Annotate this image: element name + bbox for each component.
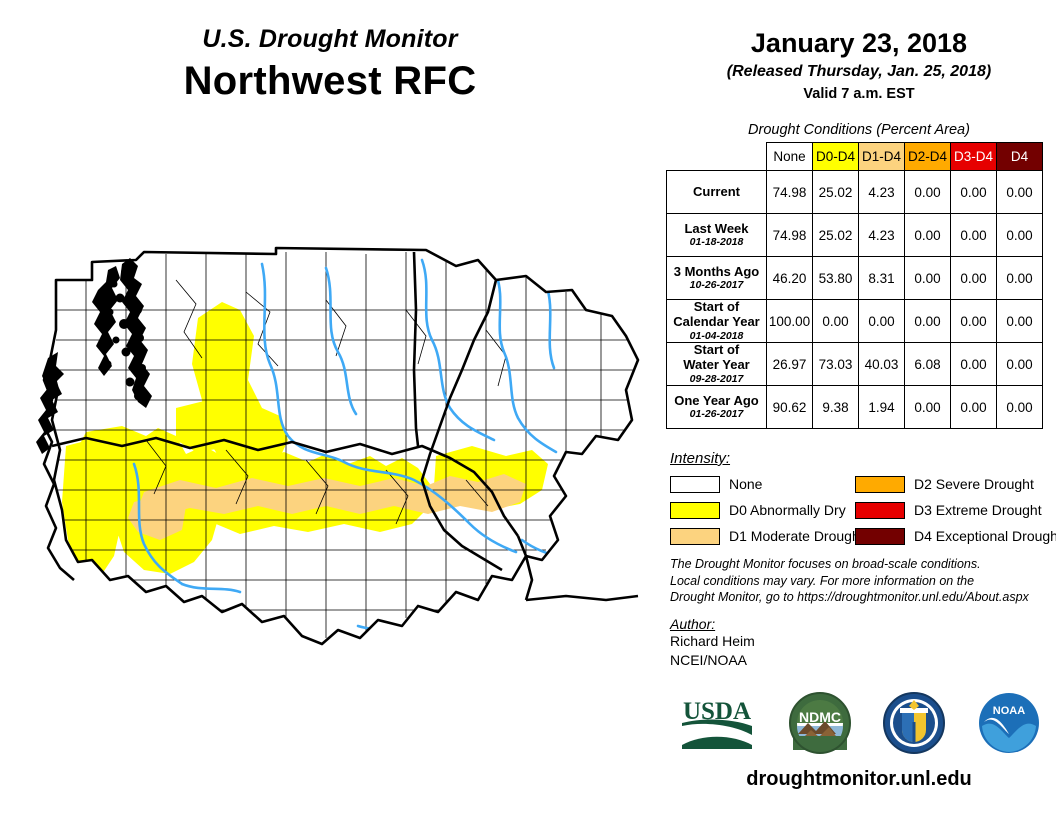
table-cell-value: 0.00 bbox=[997, 386, 1043, 429]
legend-swatch bbox=[670, 502, 720, 519]
page-subtitle: U.S. Drought Monitor bbox=[0, 26, 660, 54]
intensity-title: Intensity: bbox=[670, 450, 1050, 467]
row-label: Last Week01-18-2018 bbox=[667, 214, 767, 257]
legend-label: D4 Exceptional Drought bbox=[914, 528, 1056, 544]
legend-swatch bbox=[670, 528, 720, 545]
table-cell-value: 74.98 bbox=[767, 214, 813, 257]
legend-label: D0 Abnormally Dry bbox=[729, 502, 846, 518]
table-cell-value: 25.02 bbox=[813, 171, 859, 214]
table-cell-value: 0.00 bbox=[951, 214, 997, 257]
legend-label: D1 Moderate Drought bbox=[729, 528, 864, 544]
table-caption: Drought Conditions (Percent Area) bbox=[662, 122, 1056, 138]
table-cell-value: 26.97 bbox=[767, 343, 813, 386]
column-header-d3-d4: D3-D4 bbox=[951, 143, 997, 171]
table-header: NoneD0-D4D1-D4D2-D4D3-D4D4 bbox=[667, 143, 1043, 171]
table-cell-value: 0.00 bbox=[905, 171, 951, 214]
table-cell-value: 53.80 bbox=[813, 257, 859, 300]
table-cell-value: 1.94 bbox=[859, 386, 905, 429]
row-label-name: Start of bbox=[671, 300, 762, 315]
legend-item: D1 Moderate Drought bbox=[670, 526, 855, 546]
legend-label: None bbox=[729, 476, 762, 492]
legend-swatch bbox=[670, 476, 720, 493]
row-label: Start ofCalendar Year01-04-2018 bbox=[667, 300, 767, 343]
author-block: Author: Richard Heim NCEI/NOAA bbox=[670, 616, 1050, 670]
table-cell-value: 0.00 bbox=[997, 214, 1043, 257]
usda-logo: USDA bbox=[678, 695, 756, 751]
legend-swatch bbox=[855, 502, 905, 519]
table-cell-value: 0.00 bbox=[813, 300, 859, 343]
table-cell-value: 0.00 bbox=[905, 386, 951, 429]
legend-item: D4 Exceptional Drought bbox=[855, 526, 1040, 546]
table-cell-value: 0.00 bbox=[951, 171, 997, 214]
table-cell-value: 9.38 bbox=[813, 386, 859, 429]
table-cell-value: 74.98 bbox=[767, 171, 813, 214]
row-label-date: 01-26-2017 bbox=[671, 408, 762, 420]
svg-text:NDMC: NDMC bbox=[799, 709, 841, 725]
drought-map bbox=[26, 240, 666, 670]
usdc-seal-logo bbox=[883, 692, 945, 754]
table-cell-value: 0.00 bbox=[997, 171, 1043, 214]
table-row: Start ofCalendar Year01-04-2018100.000.0… bbox=[667, 300, 1043, 343]
intensity-legend: Intensity: NoneD2 Severe DroughtD0 Abnor… bbox=[670, 450, 1050, 546]
page-title: Northwest RFC bbox=[0, 58, 660, 104]
row-label: Current bbox=[667, 171, 767, 214]
table-cell-value: 0.00 bbox=[997, 257, 1043, 300]
title-block: U.S. Drought Monitor Northwest RFC bbox=[0, 26, 660, 104]
author-affiliation: NCEI/NOAA bbox=[670, 651, 1050, 670]
table-cell-value: 0.00 bbox=[951, 343, 997, 386]
noaa-logo: NOAA bbox=[978, 692, 1040, 754]
table-header-row: NoneD0-D4D1-D4D2-D4D3-D4D4 bbox=[667, 143, 1043, 171]
legend-item: D3 Extreme Drought bbox=[855, 500, 1040, 520]
legend-swatch bbox=[855, 476, 905, 493]
row-label: Start ofWater Year09-28-2017 bbox=[667, 343, 767, 386]
row-label-date: 01-18-2018 bbox=[671, 236, 762, 248]
table-cell-value: 0.00 bbox=[951, 300, 997, 343]
column-header-d1-d4: D1-D4 bbox=[859, 143, 905, 171]
table-cell-value: 0.00 bbox=[997, 300, 1043, 343]
row-label-name: Start of bbox=[671, 343, 762, 358]
row-label-name: One Year Ago bbox=[671, 394, 762, 409]
date-block: January 23, 2018 (Released Thursday, Jan… bbox=[662, 28, 1056, 102]
report-date: January 23, 2018 bbox=[662, 28, 1056, 59]
table-row: 3 Months Ago10-26-201746.2053.808.310.00… bbox=[667, 257, 1043, 300]
row-label: 3 Months Ago10-26-2017 bbox=[667, 257, 767, 300]
row-label-name: Last Week bbox=[671, 222, 762, 237]
legend-item: None bbox=[670, 474, 855, 494]
table-cell-value: 0.00 bbox=[859, 300, 905, 343]
table-cell-value: 0.00 bbox=[951, 386, 997, 429]
table-cell-value: 0.00 bbox=[997, 343, 1043, 386]
table-row: Current74.9825.024.230.000.000.00 bbox=[667, 171, 1043, 214]
row-label-date: 09-28-2017 bbox=[671, 373, 762, 385]
author-title: Author: bbox=[670, 616, 1050, 632]
row-label-name: Water Year bbox=[671, 358, 762, 373]
row-label: One Year Ago01-26-2017 bbox=[667, 386, 767, 429]
table-cell-value: 0.00 bbox=[905, 257, 951, 300]
table-row: Last Week01-18-201874.9825.024.230.000.0… bbox=[667, 214, 1043, 257]
drought-conditions-table: NoneD0-D4D1-D4D2-D4D3-D4D4 Current74.982… bbox=[666, 142, 1043, 429]
table-cell-value: 40.03 bbox=[859, 343, 905, 386]
table-corner-cell bbox=[667, 143, 767, 171]
valid-time: Valid 7 a.m. EST bbox=[662, 86, 1056, 102]
row-label-date: 01-04-2018 bbox=[671, 330, 762, 342]
table-cell-value: 0.00 bbox=[905, 300, 951, 343]
table-cell-value: 4.23 bbox=[859, 171, 905, 214]
table-row: Start ofWater Year09-28-201726.9773.0340… bbox=[667, 343, 1043, 386]
disclaimer-notes: The Drought Monitor focuses on broad-sca… bbox=[670, 556, 1050, 606]
column-header-d4: D4 bbox=[997, 143, 1043, 171]
table-cell-value: 46.20 bbox=[767, 257, 813, 300]
disclaimer-line-2: Local conditions may vary. For more info… bbox=[670, 573, 1050, 590]
table-cell-value: 0.00 bbox=[905, 214, 951, 257]
table-cell-value: 4.23 bbox=[859, 214, 905, 257]
column-header-none: None bbox=[767, 143, 813, 171]
disclaimer-line-3: Drought Monitor, go to https://droughtmo… bbox=[670, 589, 1050, 606]
legend-grid: NoneD2 Severe DroughtD0 Abnormally DryD3… bbox=[670, 474, 1050, 546]
disclaimer-line-1: The Drought Monitor focuses on broad-sca… bbox=[670, 556, 1050, 573]
legend-label: D2 Severe Drought bbox=[914, 476, 1034, 492]
table-cell-value: 0.00 bbox=[951, 257, 997, 300]
legend-label: D3 Extreme Drought bbox=[914, 502, 1042, 518]
row-label-name: Calendar Year bbox=[671, 315, 762, 330]
column-header-d0-d4: D0-D4 bbox=[813, 143, 859, 171]
legend-item: D2 Severe Drought bbox=[855, 474, 1040, 494]
ndmc-logo: NDMC bbox=[789, 692, 851, 754]
table-cell-value: 6.08 bbox=[905, 343, 951, 386]
logo-row: USDA NDMC bbox=[662, 692, 1056, 754]
table-row: One Year Ago01-26-201790.629.381.940.000… bbox=[667, 386, 1043, 429]
website-url: droughtmonitor.unl.edu bbox=[662, 768, 1056, 791]
table-cell-value: 8.31 bbox=[859, 257, 905, 300]
table-body: Current74.9825.024.230.000.000.00Last We… bbox=[667, 171, 1043, 429]
table-cell-value: 100.00 bbox=[767, 300, 813, 343]
svg-text:NOAA: NOAA bbox=[993, 705, 1025, 717]
row-label-name: Current bbox=[671, 185, 762, 200]
legend-swatch bbox=[855, 528, 905, 545]
table-cell-value: 73.03 bbox=[813, 343, 859, 386]
row-label-name: 3 Months Ago bbox=[671, 265, 762, 280]
column-header-d2-d4: D2-D4 bbox=[905, 143, 951, 171]
table-cell-value: 90.62 bbox=[767, 386, 813, 429]
legend-item: D0 Abnormally Dry bbox=[670, 500, 855, 520]
table-cell-value: 25.02 bbox=[813, 214, 859, 257]
author-name: Richard Heim bbox=[670, 632, 1050, 651]
drought-monitor-page: U.S. Drought Monitor Northwest RFC Janua… bbox=[0, 0, 1056, 816]
row-label-date: 10-26-2017 bbox=[671, 279, 762, 291]
release-date: (Released Thursday, Jan. 25, 2018) bbox=[662, 63, 1056, 81]
